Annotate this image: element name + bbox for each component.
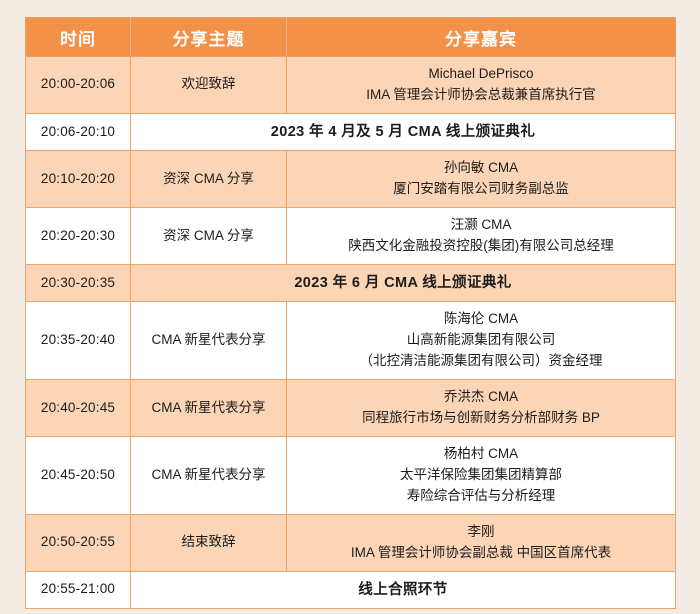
- guest-line: 汪灏 CMA: [293, 215, 669, 236]
- column-header-time: 时间: [26, 18, 131, 57]
- guest-line: 陕西文化金融投资控股(集团)有限公司总经理: [293, 236, 669, 257]
- column-header-topic: 分享主题: [131, 18, 287, 57]
- guest-line: 寿险综合评估与分析经理: [293, 486, 669, 507]
- cell-topic: CMA 新星代表分享: [131, 437, 287, 515]
- table-row: 20:50-20:55结束致辞李刚IMA 管理会计师协会副总裁 中国区首席代表: [26, 514, 676, 571]
- cell-guest: 陈海伦 CMA山高新能源集团有限公司（北控清洁能源集团有限公司）资金经理: [287, 302, 676, 380]
- table-row: 20:00-20:06欢迎致辞Michael DePriscoIMA 管理会计师…: [26, 57, 676, 114]
- guest-line: 同程旅行市场与创新财务分析部财务 BP: [293, 408, 669, 429]
- cell-topic: 结束致辞: [131, 514, 287, 571]
- cell-merged-announcement: 2023 年 6 月 CMA 线上颁证典礼: [131, 265, 676, 302]
- guest-line: 陈海伦 CMA: [293, 309, 669, 330]
- guest-line: （北控清洁能源集团有限公司）资金经理: [293, 351, 669, 372]
- table-row: 20:35-20:40CMA 新星代表分享陈海伦 CMA山高新能源集团有限公司（…: [26, 302, 676, 380]
- table-row: 20:55-21:00线上合照环节: [26, 571, 676, 608]
- guest-line: 厦门安踏有限公司财务副总监: [293, 179, 669, 200]
- guest-line: 孙向敏 CMA: [293, 158, 669, 179]
- guest-line: IMA 管理会计师协会总裁兼首席执行官: [293, 85, 669, 106]
- table-row: 20:40-20:45CMA 新星代表分享乔洪杰 CMA同程旅行市场与创新财务分…: [26, 380, 676, 437]
- agenda-table-body: 20:00-20:06欢迎致辞Michael DePriscoIMA 管理会计师…: [26, 57, 676, 609]
- guest-line: 山高新能源集团有限公司: [293, 330, 669, 351]
- guest-line: Michael DePrisco: [293, 64, 669, 85]
- cell-time: 20:45-20:50: [26, 437, 131, 515]
- cell-guest: 汪灏 CMA陕西文化金融投资控股(集团)有限公司总经理: [287, 208, 676, 265]
- cell-guest: 乔洪杰 CMA同程旅行市场与创新财务分析部财务 BP: [287, 380, 676, 437]
- cell-topic: 欢迎致辞: [131, 57, 287, 114]
- guest-line: 乔洪杰 CMA: [293, 387, 669, 408]
- cell-time: 20:10-20:20: [26, 151, 131, 208]
- guest-line: 杨柏村 CMA: [293, 444, 669, 465]
- cell-guest: 李刚IMA 管理会计师协会副总裁 中国区首席代表: [287, 514, 676, 571]
- cell-topic: CMA 新星代表分享: [131, 302, 287, 380]
- cell-merged-announcement: 2023 年 4 月及 5 月 CMA 线上颁证典礼: [131, 113, 676, 150]
- table-row: 20:20-20:30资深 CMA 分享汪灏 CMA陕西文化金融投资控股(集团)…: [26, 208, 676, 265]
- header-row: 时间 分享主题 分享嘉宾: [26, 18, 676, 57]
- guest-line: 太平洋保险集团集团精算部: [293, 465, 669, 486]
- cell-topic: CMA 新星代表分享: [131, 380, 287, 437]
- cell-time: 20:00-20:06: [26, 57, 131, 114]
- cell-time: 20:20-20:30: [26, 208, 131, 265]
- cell-merged-announcement: 线上合照环节: [131, 571, 676, 608]
- cell-time: 20:06-20:10: [26, 113, 131, 150]
- cell-time: 20:50-20:55: [26, 514, 131, 571]
- agenda-container: 时间 分享主题 分享嘉宾 20:00-20:06欢迎致辞Michael DePr…: [0, 0, 700, 614]
- cell-guest: 孙向敏 CMA厦门安踏有限公司财务副总监: [287, 151, 676, 208]
- cell-time: 20:55-21:00: [26, 571, 131, 608]
- guest-line: 李刚: [293, 522, 669, 543]
- cell-topic: 资深 CMA 分享: [131, 151, 287, 208]
- table-row: 20:06-20:102023 年 4 月及 5 月 CMA 线上颁证典礼: [26, 113, 676, 150]
- cell-time: 20:35-20:40: [26, 302, 131, 380]
- cell-guest: Michael DePriscoIMA 管理会计师协会总裁兼首席执行官: [287, 57, 676, 114]
- cell-topic: 资深 CMA 分享: [131, 208, 287, 265]
- table-row: 20:30-20:352023 年 6 月 CMA 线上颁证典礼: [26, 265, 676, 302]
- table-row: 20:10-20:20资深 CMA 分享孙向敏 CMA厦门安踏有限公司财务副总监: [26, 151, 676, 208]
- cell-time: 20:30-20:35: [26, 265, 131, 302]
- agenda-table-header: 时间 分享主题 分享嘉宾: [26, 18, 676, 57]
- agenda-table: 时间 分享主题 分享嘉宾 20:00-20:06欢迎致辞Michael DePr…: [25, 17, 676, 609]
- table-row: 20:45-20:50CMA 新星代表分享杨柏村 CMA太平洋保险集团集团精算部…: [26, 437, 676, 515]
- guest-line: IMA 管理会计师协会副总裁 中国区首席代表: [293, 543, 669, 564]
- cell-guest: 杨柏村 CMA太平洋保险集团集团精算部寿险综合评估与分析经理: [287, 437, 676, 515]
- column-header-guest: 分享嘉宾: [287, 18, 676, 57]
- cell-time: 20:40-20:45: [26, 380, 131, 437]
